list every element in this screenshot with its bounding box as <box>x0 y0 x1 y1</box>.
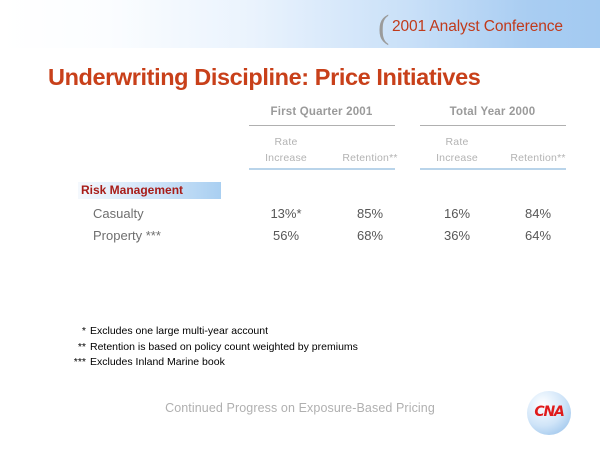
slide-canvas: ( 2001 Analyst Conference Underwriting D… <box>0 0 600 450</box>
table-row-label: Casualty <box>93 206 144 221</box>
subheader-rule-q1 <box>249 168 395 170</box>
table-cell: 64% <box>492 228 584 243</box>
footnote-item: ***Excludes Inland Marine book <box>56 355 476 371</box>
footnote-marker: ** <box>56 340 90 356</box>
conference-title: 2001 Analyst Conference <box>392 18 563 36</box>
footnotes-block: *Excludes one large multi-year account *… <box>56 324 476 371</box>
column-group-rule-ty <box>420 125 566 126</box>
header-band: ( 2001 Analyst Conference <box>0 0 600 48</box>
table-cell: 68% <box>324 228 416 243</box>
subheader-rate-increase-ty-line2: Increase <box>415 152 499 165</box>
table-cell: 13%* <box>244 206 328 221</box>
column-group-rule-q1 <box>249 125 395 126</box>
column-group-header-q1: First Quarter 2001 <box>244 106 399 118</box>
table-row-label: Property *** <box>93 228 161 243</box>
subheader-rate-increase-q1-line2: Increase <box>244 152 328 165</box>
footnote-item: *Excludes one large multi-year account <box>56 324 476 340</box>
footnote-marker: * <box>56 324 90 340</box>
footnote-text: Retention is based on policy count weigh… <box>90 341 358 353</box>
footnote-text: Excludes Inland Marine book <box>90 356 225 368</box>
subheader-retention-ty: Retention** <box>492 152 584 165</box>
subheader-rate-increase-ty-line1: Rate <box>415 136 499 149</box>
footnote-marker: *** <box>56 355 90 371</box>
table-cell: 85% <box>324 206 416 221</box>
page-title: Underwriting Discipline: Price Initiativ… <box>48 64 480 91</box>
table-cell: 56% <box>244 228 328 243</box>
footnote-item: **Retention is based on policy count wei… <box>56 340 476 356</box>
table-cell: 16% <box>415 206 499 221</box>
footnote-text: Excludes one large multi-year account <box>90 325 268 337</box>
subheader-retention-q1: Retention** <box>324 152 416 165</box>
cna-logo-text: CNA <box>527 404 571 420</box>
table-cell: 36% <box>415 228 499 243</box>
open-paren-icon: ( <box>378 13 392 43</box>
footer-tagline: Continued Progress on Exposure-Based Pri… <box>0 401 600 415</box>
subheader-rule-ty <box>420 168 566 170</box>
cna-logo: CNA <box>527 391 571 435</box>
table-cell: 84% <box>492 206 584 221</box>
subheader-rate-increase-q1-line1: Rate <box>244 136 328 149</box>
column-group-header-ty: Total Year 2000 <box>415 106 570 118</box>
section-label-risk-management: Risk Management <box>81 183 183 197</box>
